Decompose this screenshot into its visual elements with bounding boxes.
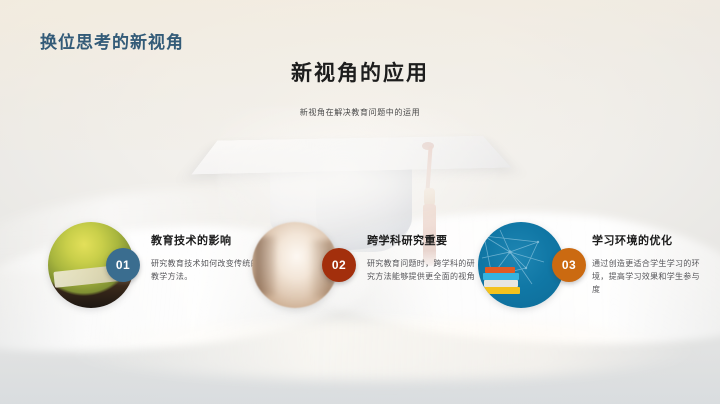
book-orange [485, 267, 515, 273]
content-card-2[interactable]: 02 跨学科研究重要 研究教育问题时，跨学科的研究方法能够提供更全面的视角 [252, 218, 462, 358]
card-3-number-badge: 03 [552, 248, 586, 282]
card-2-body: 研究教育问题时，跨学科的研究方法能够提供更全面的视角 [367, 257, 479, 283]
card-3-body: 通过创造更适合学生学习的环境，提高学习效果和学生参与度 [592, 257, 708, 297]
card-1-number-badge: 01 [106, 248, 140, 282]
card-3-title: 学习环境的优化 [592, 232, 708, 248]
book-blue [483, 273, 519, 280]
presentation-slide: 换位思考的新视角 新视角的应用 新视角在解决教育问题中的运用 01 教育技术的影… [0, 0, 720, 404]
slide-label: 换位思考的新视角 [40, 28, 184, 53]
card-1-body: 研究教育技术如何改变传统的教学方法。 [151, 257, 261, 283]
books-stack-icon [482, 260, 522, 294]
card-1-text: 教育技术的影响 研究教育技术如何改变传统的教学方法。 [151, 232, 261, 283]
cards-row: 01 教育技术的影响 研究教育技术如何改变传统的教学方法。 02 跨学科研究重要… [0, 218, 720, 358]
card-2-title: 跨学科研究重要 [367, 232, 479, 248]
card-1-title: 教育技术的影响 [151, 232, 261, 248]
card-2-number-badge: 02 [322, 248, 356, 282]
page-title: 新视角的应用 [0, 57, 720, 87]
book-white [484, 280, 518, 287]
card-2-text: 跨学科研究重要 研究教育问题时，跨学科的研究方法能够提供更全面的视角 [367, 232, 479, 283]
book-yellow [482, 287, 520, 294]
card-3-text: 学习环境的优化 通过创造更适合学生学习的环境，提高学习效果和学生参与度 [592, 232, 708, 297]
content-card-1[interactable]: 01 教育技术的影响 研究教育技术如何改变传统的教学方法。 [48, 218, 258, 358]
content-card-3[interactable]: 03 学习环境的优化 通过创造更适合学生学习的环境，提高学习效果和学生参与度 [478, 218, 708, 358]
page-subtitle: 新视角在解决教育问题中的运用 [0, 107, 720, 118]
